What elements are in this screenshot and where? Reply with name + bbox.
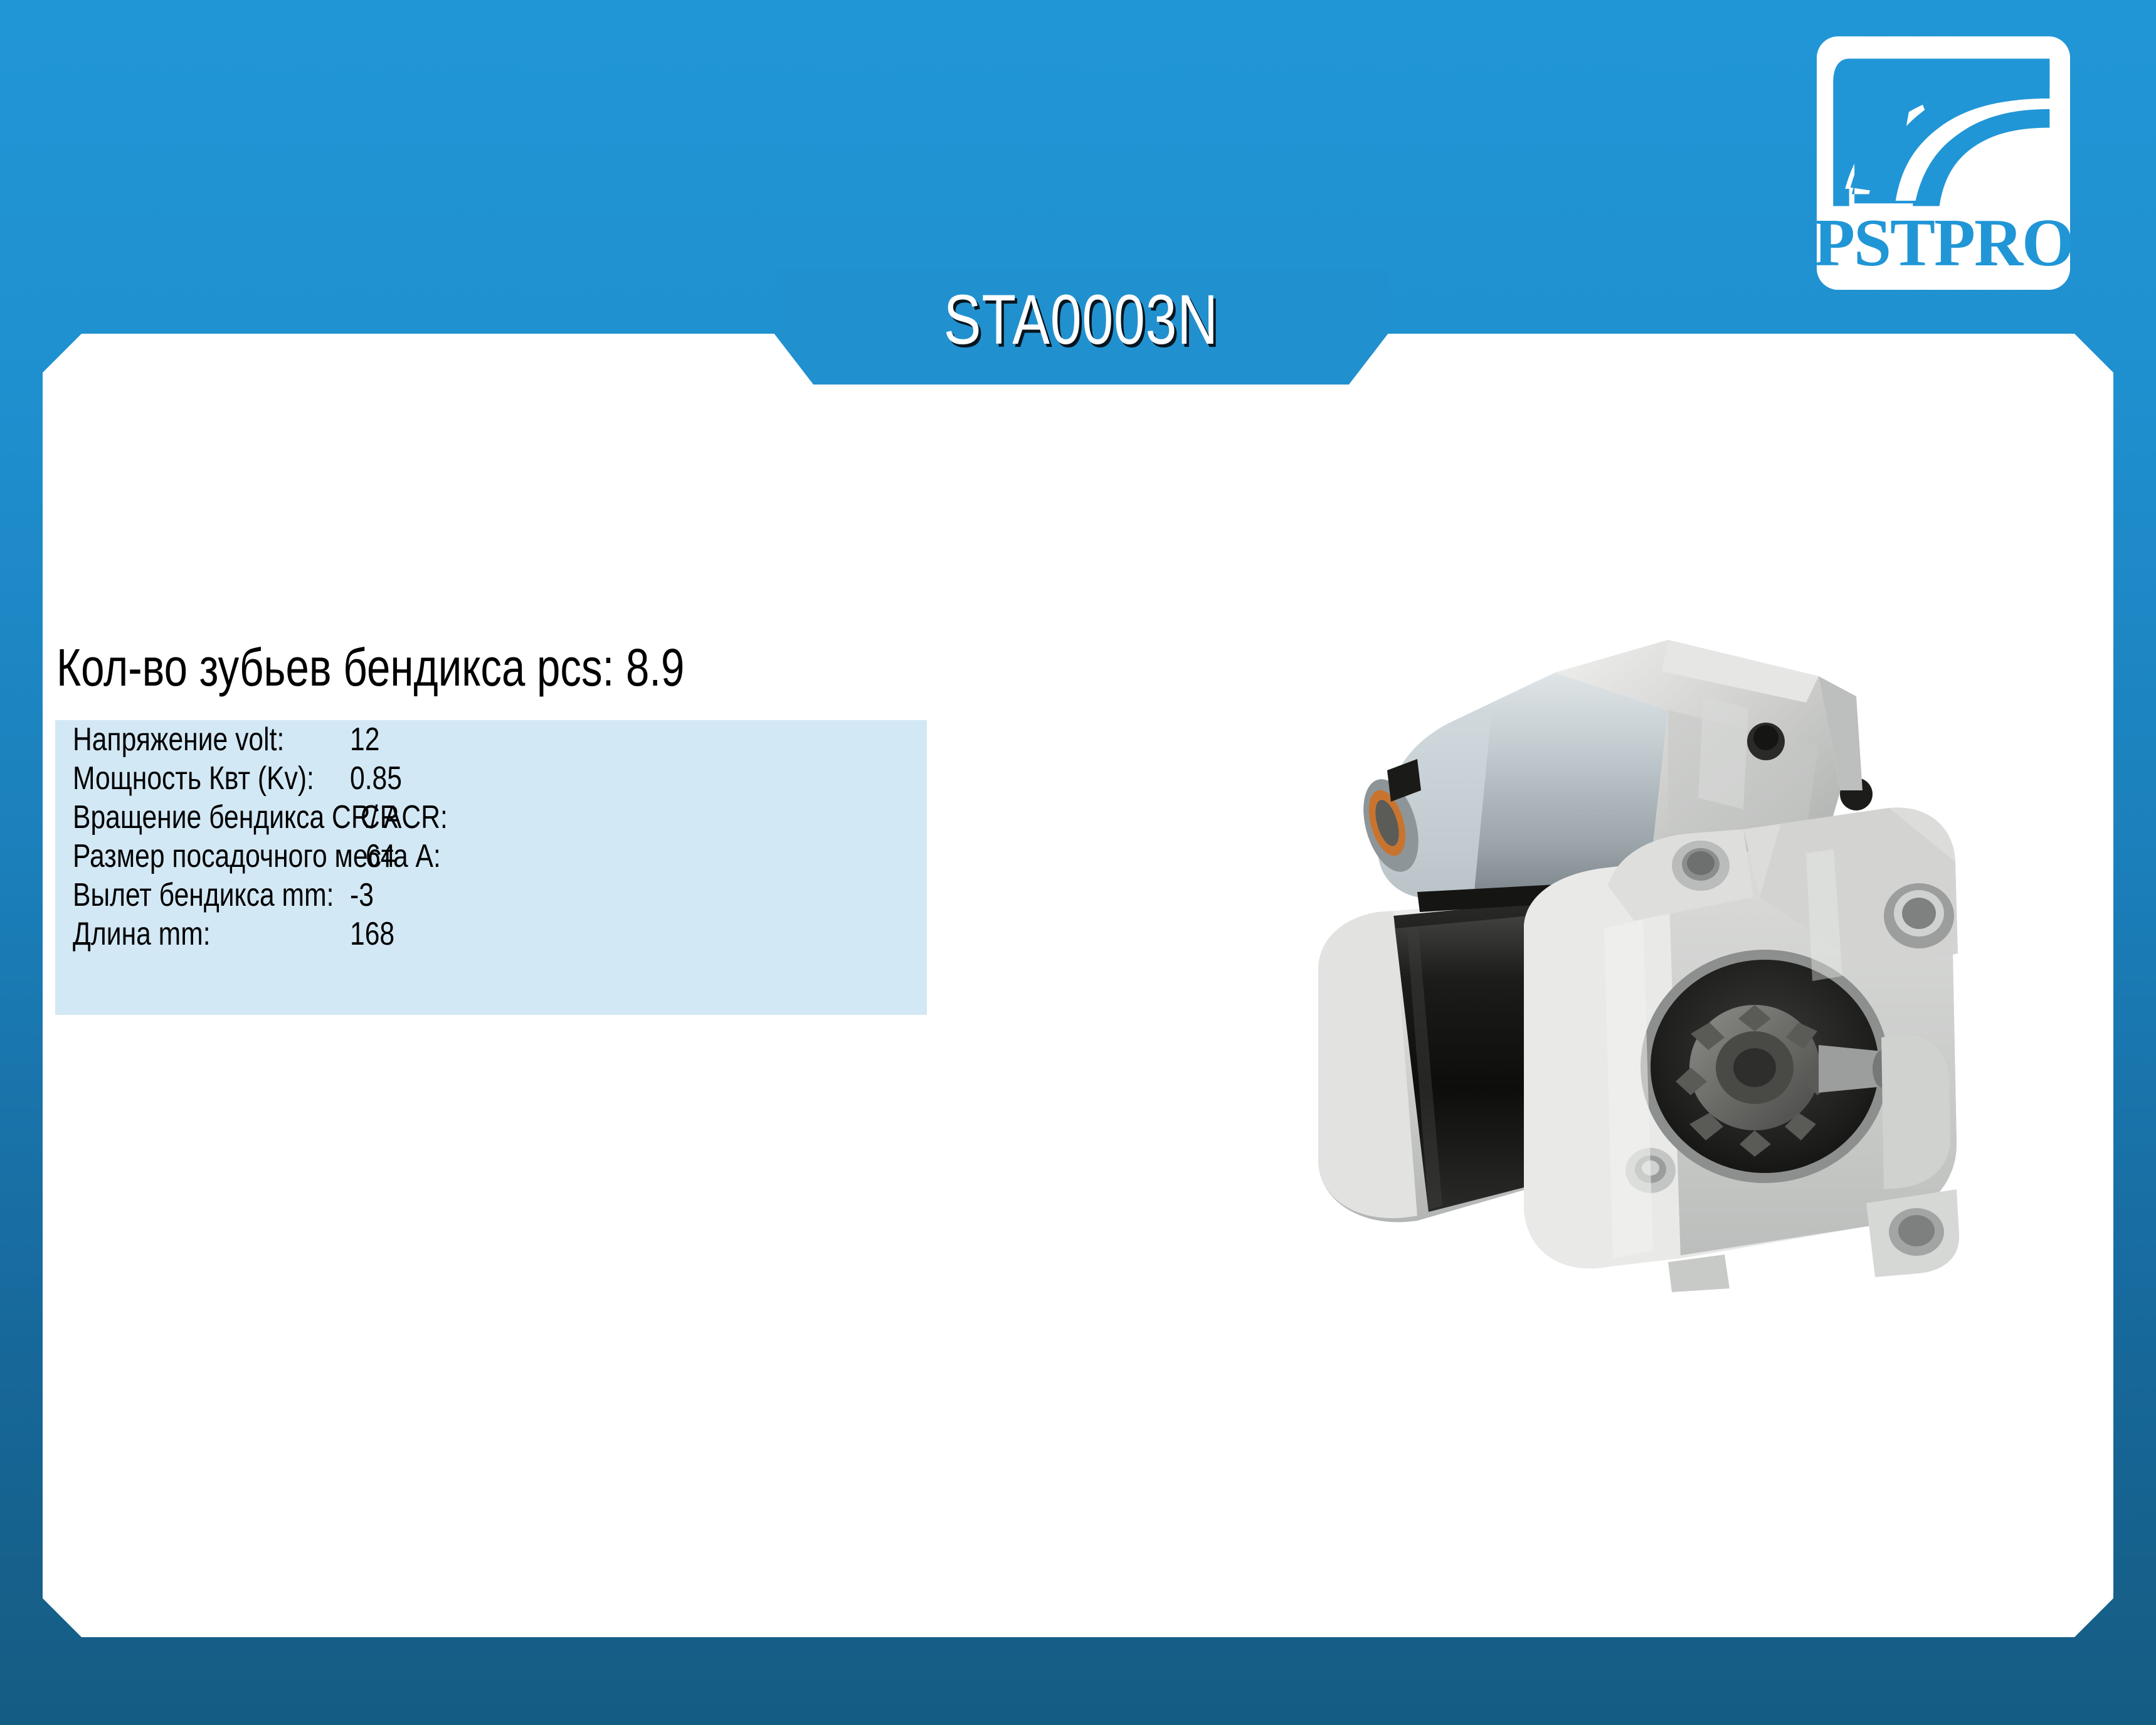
- table-row: Размер посадочного места A: 64: [55, 837, 927, 876]
- title-banner: STA0003N: [774, 270, 1388, 385]
- spec-value-voltage: 12: [350, 723, 379, 756]
- starter-motor-icon: [1229, 602, 2007, 1292]
- road-highway-icon: [1831, 51, 2056, 213]
- table-row: Вылет бендикса mm: -3: [55, 876, 927, 915]
- table-row: Мощность Квт (Kv): 0.85: [55, 759, 927, 798]
- spec-value-mount-size: 64: [366, 840, 395, 873]
- table-row: Длина mm: 168: [55, 915, 927, 953]
- spec-value-power: 0.85: [350, 762, 402, 795]
- brand-wordmark: PSTPRO: [1814, 210, 2073, 277]
- brand-logo: PSTPRO: [1817, 36, 2070, 290]
- table-row: Вращение бендикса CR/ ACR: CR: [55, 798, 927, 837]
- spec-value-length: 168: [350, 918, 394, 950]
- spec-label-power: Мощность Квт (Kv):: [73, 762, 314, 795]
- spec-table: Напряжение volt: 12 Мощность Квт (Kv): 0…: [55, 720, 927, 1015]
- spec-label-length: Длина mm:: [73, 918, 211, 950]
- product-image: [1229, 602, 2007, 1292]
- spec-label-bendix-offset: Вылет бендикса mm:: [73, 879, 334, 911]
- spec-value-rotation: CR: [361, 801, 399, 834]
- table-row: Напряжение volt: 12: [55, 720, 927, 759]
- bendix-teeth-heading: Кол-во зубьев бендикса pcs: 8.9: [56, 641, 684, 694]
- spec-value-bendix-offset: -3: [350, 879, 374, 911]
- page-title: STA0003N: [944, 285, 1218, 370]
- spec-label-voltage: Напряжение volt:: [73, 723, 284, 756]
